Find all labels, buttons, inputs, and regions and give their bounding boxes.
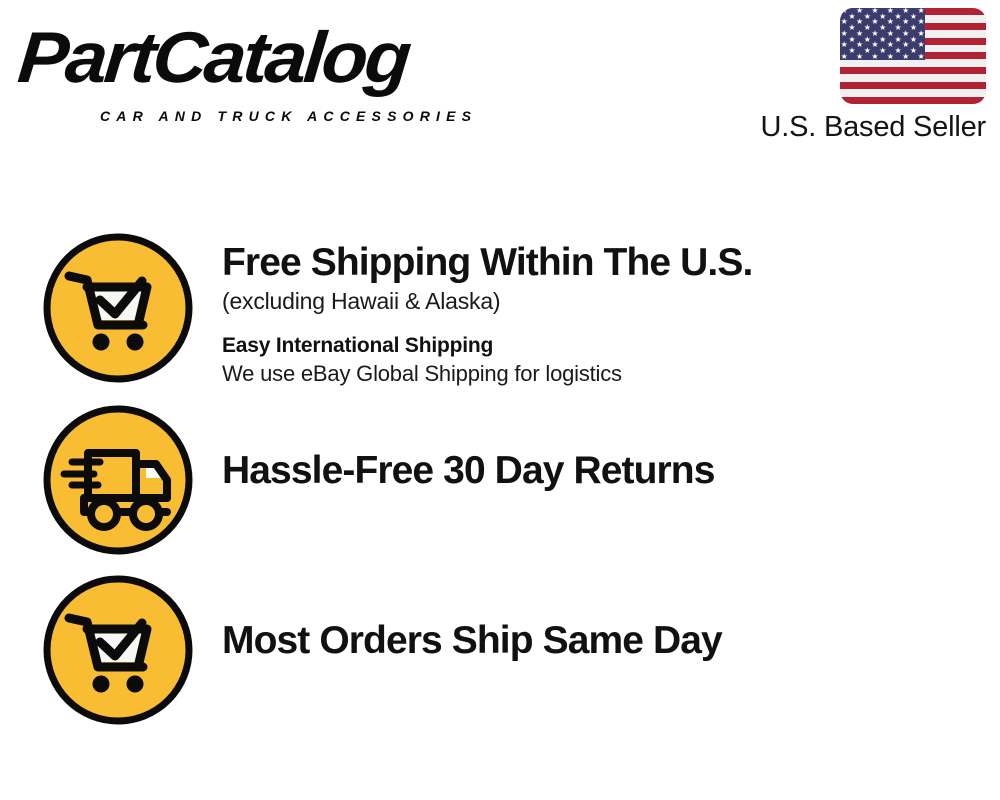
- delivery-truck-icon: [42, 404, 194, 556]
- flag-star: ★: [918, 40, 925, 50]
- flag-star: ★: [902, 17, 909, 27]
- flag-star: ★: [879, 46, 886, 56]
- flag-star: ★: [856, 40, 863, 50]
- page-header: PartCatalog CAR AND TRUCK ACCESSORIES ★★…: [0, 0, 1000, 170]
- feature-title: Free Shipping Within The U.S.: [222, 240, 982, 286]
- flag-star: ★: [918, 8, 925, 16]
- flag-star: ★: [856, 52, 863, 62]
- flag-star: ★: [864, 35, 871, 45]
- flag-star: ★: [856, 29, 863, 39]
- flag-star: ★: [887, 8, 894, 16]
- flag-star: ★: [856, 17, 863, 27]
- us-based-seller-label: U.S. Based Seller: [726, 110, 986, 144]
- flag-star: ★: [910, 35, 917, 45]
- flag-star: ★: [894, 12, 901, 22]
- feature-text-block: Most Orders Ship Same Day: [222, 618, 982, 664]
- flag-star: ★: [841, 17, 848, 27]
- flag-star: ★: [887, 52, 894, 62]
- feature-text-block: Hassle-Free 30 Day Returns: [222, 448, 982, 494]
- flag-star: ★: [902, 52, 909, 62]
- flag-star: ★: [918, 52, 925, 62]
- flag-star: ★: [902, 29, 909, 39]
- flag-star: ★: [871, 40, 878, 50]
- flag-star: ★: [918, 17, 925, 27]
- flag-stripe: [840, 97, 986, 104]
- flag-star: ★: [879, 12, 886, 22]
- flag-stripe: [840, 89, 986, 96]
- shopping-cart-check-icon: [42, 574, 194, 726]
- flag-star: ★: [879, 23, 886, 33]
- brand-logo[interactable]: PartCatalog CAR AND TRUCK ACCESSORIES: [22, 20, 492, 110]
- flag-star: ★: [879, 35, 886, 45]
- flag-star: ★: [894, 35, 901, 45]
- flag-stripe: [840, 67, 986, 74]
- flag-star: ★: [848, 46, 855, 56]
- flag-star: ★: [902, 8, 909, 16]
- flag-star: ★: [848, 35, 855, 45]
- flag-star: ★: [894, 23, 901, 33]
- flag-star: ★: [910, 46, 917, 56]
- flag-star: ★: [864, 12, 871, 22]
- flag-stripe: [840, 74, 986, 81]
- shopping-cart-check-icon: [42, 232, 194, 384]
- us-flag-icon: ★★★★★★★★★★★★★★★★★★★★★★★★★★★★★★★★★★★★★★★★…: [840, 8, 986, 104]
- flag-star: ★: [871, 8, 878, 16]
- feature-title: Hassle-Free 30 Day Returns: [222, 448, 982, 494]
- flag-star: ★: [864, 23, 871, 33]
- flag-star: ★: [841, 29, 848, 39]
- feature-secondary-title: Easy International Shipping: [222, 332, 982, 359]
- feature-text-block: Free Shipping Within The U.S. (excluding…: [222, 240, 982, 389]
- us-based-seller-badge: ★★★★★★★★★★★★★★★★★★★★★★★★★★★★★★★★★★★★★★★★…: [726, 8, 986, 144]
- brand-wordmark: PartCatalog: [15, 20, 412, 96]
- flag-star: ★: [841, 52, 848, 62]
- flag-star: ★: [887, 29, 894, 39]
- flag-star: ★: [871, 17, 878, 27]
- flag-star: ★: [910, 23, 917, 33]
- flag-star: ★: [864, 46, 871, 56]
- flag-star: ★: [856, 8, 863, 16]
- flag-stripe: [840, 82, 986, 89]
- flag-star: ★: [871, 29, 878, 39]
- flag-star: ★: [848, 23, 855, 33]
- flag-star: ★: [902, 40, 909, 50]
- flag-star: ★: [910, 12, 917, 22]
- flag-star: ★: [894, 46, 901, 56]
- feature-secondary-text: We use eBay Global Shipping for logistic…: [222, 359, 982, 389]
- flag-star: ★: [918, 29, 925, 39]
- brand-tagline: CAR AND TRUCK ACCESSORIES: [100, 108, 477, 124]
- flag-star: ★: [887, 40, 894, 50]
- feature-subtitle: (excluding Hawaii & Alaska): [222, 286, 982, 316]
- flag-canton: ★★★★★★★★★★★★★★★★★★★★★★★★★★★★★★★★★★★★★★★★…: [840, 8, 925, 60]
- flag-star: ★: [887, 17, 894, 27]
- flag-star: ★: [871, 52, 878, 62]
- feature-title: Most Orders Ship Same Day: [222, 618, 982, 664]
- flag-star: ★: [841, 40, 848, 50]
- flag-star: ★: [848, 12, 855, 22]
- flag-star: ★: [841, 8, 848, 16]
